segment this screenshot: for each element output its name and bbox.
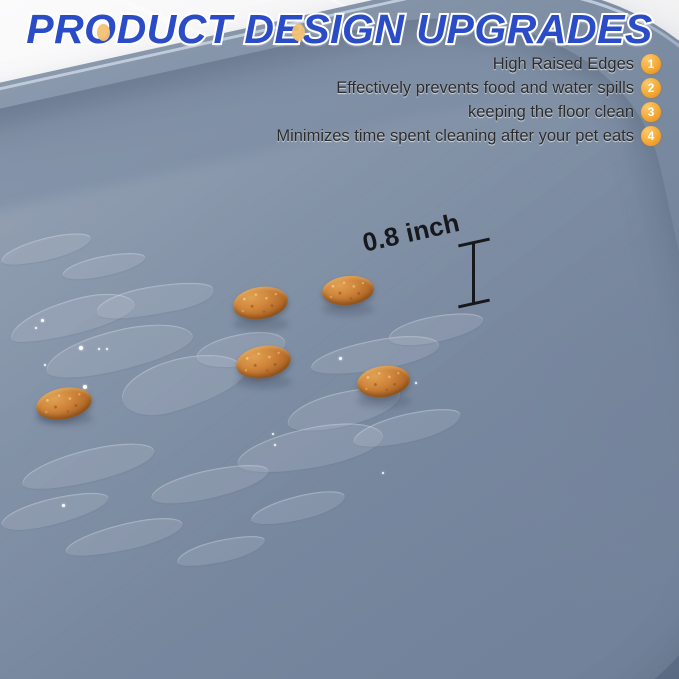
list-item: keeping the floor clean 3 — [468, 102, 661, 122]
droplet-highlight — [106, 348, 108, 350]
dimension-vertical-line — [472, 243, 475, 303]
feature-label: Minimizes time spent cleaning after your… — [276, 126, 634, 146]
list-item: Effectively prevents food and water spil… — [336, 78, 661, 98]
status-badge: 4 — [641, 126, 661, 146]
droplet-highlight — [35, 327, 37, 329]
droplet-highlight — [44, 364, 46, 366]
page-title: PRODUCT DESIGN UPGRADES — [0, 6, 679, 52]
product-marketing-image: 0.8 inch PRODUCT DESIGN UPGRADES High Ra… — [0, 0, 679, 679]
droplet-highlight — [415, 382, 417, 384]
droplet-highlight — [274, 444, 276, 446]
droplet-highlight — [79, 346, 83, 350]
droplet-highlight — [339, 357, 342, 360]
droplet-highlight — [62, 504, 65, 507]
feature-label: Effectively prevents food and water spil… — [336, 78, 634, 98]
status-badge: 3 — [641, 102, 661, 122]
list-item: Minimizes time spent cleaning after your… — [276, 126, 661, 146]
status-badge: 2 — [641, 78, 661, 98]
list-item: High Raised Edges 1 — [493, 54, 661, 74]
droplet-highlight — [98, 348, 100, 350]
status-badge: 1 — [641, 54, 661, 74]
feature-list: High Raised Edges 1 Effectively prevents… — [141, 54, 661, 146]
feature-label: keeping the floor clean — [468, 102, 634, 122]
droplet-highlight — [83, 385, 87, 389]
feature-label: High Raised Edges — [493, 54, 634, 74]
droplet-highlight — [382, 472, 384, 474]
dimension-bar-icon — [456, 240, 494, 306]
droplet-highlight — [272, 433, 274, 435]
droplet-highlight — [41, 319, 44, 322]
